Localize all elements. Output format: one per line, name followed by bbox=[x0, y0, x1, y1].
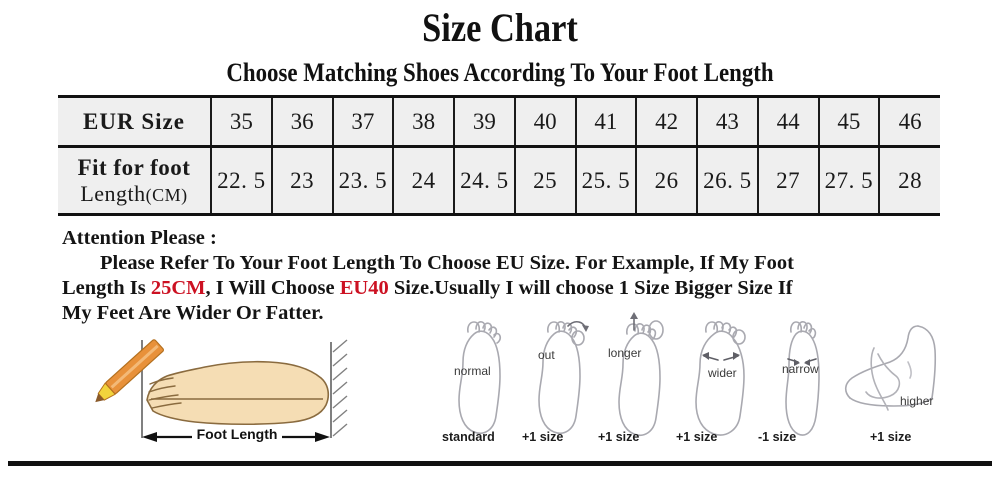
fit-label-line2: Length(CM) bbox=[58, 181, 210, 206]
eur-size-cell: 46 bbox=[879, 97, 940, 147]
fit-label-unit: (CM) bbox=[146, 185, 188, 205]
eur-size-cell: 40 bbox=[515, 97, 576, 147]
foot-length-cell: 26. 5 bbox=[697, 147, 758, 215]
eur-size-cell: 43 bbox=[697, 97, 758, 147]
foot-length-cell: 28 bbox=[879, 147, 940, 215]
foot-type-figures: normal out longer wider narrow higher st… bbox=[430, 312, 950, 462]
page-subtitle: Choose Matching Shoes According To Your … bbox=[60, 58, 940, 88]
foot-length-cell: 23 bbox=[272, 147, 333, 215]
eur-size-cell: 39 bbox=[454, 97, 515, 147]
foot-length-cell: 26 bbox=[636, 147, 697, 215]
foot-length-cell: 25 bbox=[515, 147, 576, 215]
foot-length-cell: 24. 5 bbox=[454, 147, 515, 215]
foot-length-cell: 27. 5 bbox=[819, 147, 880, 215]
foot-length-cell: 25. 5 bbox=[576, 147, 637, 215]
wall-hatching-icon bbox=[331, 340, 347, 438]
foot-type-inner-label: out bbox=[538, 348, 555, 362]
foot-type-inner-label: narrow bbox=[782, 362, 819, 376]
eur-size-cell: 38 bbox=[393, 97, 454, 147]
size-table-wrapper: EUR Size 35 36 37 38 39 40 41 42 43 44 4… bbox=[58, 95, 940, 216]
table-row-foot-length: Fit for foot Length(CM) 22. 5 23 23. 5 2… bbox=[58, 147, 940, 215]
foot-measure-diagram: Foot Length bbox=[95, 336, 365, 454]
foot-silhouette bbox=[147, 362, 328, 425]
highlight-foot-length: 25CM bbox=[151, 277, 206, 299]
eur-size-cell: 45 bbox=[819, 97, 880, 147]
foot-length-cell: 22. 5 bbox=[211, 147, 272, 215]
attention-block: Attention Please : Please Refer To Your … bbox=[62, 226, 942, 326]
highlight-eu-size: EU40 bbox=[340, 277, 389, 299]
footprint-longer-icon bbox=[619, 312, 663, 435]
row-header-eur-size: EUR Size bbox=[58, 97, 211, 147]
size-chart-page: Size Chart Choose Matching Shoes Accordi… bbox=[0, 0, 1000, 480]
footprint-narrow-icon bbox=[786, 322, 819, 435]
attention-line3-part3: Size.Usually I will choose 1 Size Bigger… bbox=[389, 277, 793, 299]
foot-type-size-label: +1 size bbox=[598, 430, 639, 444]
eur-size-cell: 41 bbox=[576, 97, 637, 147]
eur-size-cell: 44 bbox=[758, 97, 819, 147]
size-table: EUR Size 35 36 37 38 39 40 41 42 43 44 4… bbox=[58, 95, 940, 216]
eur-size-cell: 37 bbox=[333, 97, 394, 147]
row-header-fit-for-foot: Fit for foot Length(CM) bbox=[58, 147, 211, 215]
attention-line3-part2: , I Will Choose bbox=[206, 277, 340, 299]
foot-length-cell: 23. 5 bbox=[333, 147, 394, 215]
page-title: Size Chart bbox=[70, 6, 930, 50]
foot-type-inner-label: normal bbox=[454, 364, 491, 378]
foot-type-size-label: -1 size bbox=[758, 430, 796, 444]
foot-type-size-label: +1 size bbox=[870, 430, 911, 444]
eur-size-cell: 35 bbox=[211, 97, 272, 147]
attention-line-3: Length Is 25CM, I Will Choose EU40 Size.… bbox=[62, 276, 942, 301]
foot-type-size-label: +1 size bbox=[676, 430, 717, 444]
foot-length-label: Foot Length bbox=[191, 426, 283, 442]
eur-size-cell: 36 bbox=[272, 97, 333, 147]
foot-type-inner-label: higher bbox=[900, 394, 933, 408]
fit-label-line1: Fit for foot bbox=[58, 155, 210, 181]
foot-type-size-label: standard bbox=[442, 430, 495, 444]
foot-length-cell: 24 bbox=[393, 147, 454, 215]
table-row-eur: EUR Size 35 36 37 38 39 40 41 42 43 44 4… bbox=[58, 97, 940, 147]
bottom-divider bbox=[8, 461, 992, 466]
foot-length-cell: 27 bbox=[758, 147, 819, 215]
footprint-out-icon bbox=[539, 322, 589, 433]
foot-type-size-label: +1 size bbox=[522, 430, 563, 444]
foot-type-inner-label: wider bbox=[708, 366, 737, 380]
foot-type-inner-label: longer bbox=[608, 346, 641, 360]
eur-size-cell: 42 bbox=[636, 97, 697, 147]
attention-heading: Attention Please : bbox=[62, 226, 942, 251]
attention-line-2: Please Refer To Your Foot Length To Choo… bbox=[62, 251, 942, 276]
attention-line3-part1: Length Is bbox=[62, 277, 151, 299]
